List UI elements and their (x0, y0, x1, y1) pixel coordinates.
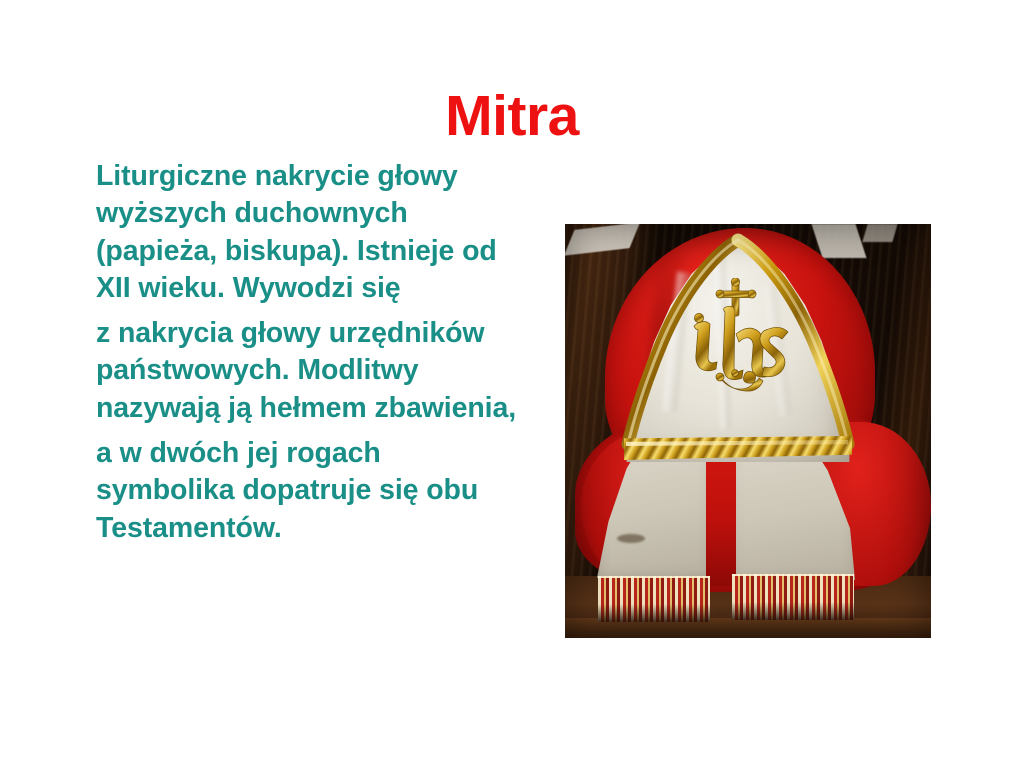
body-text-block: Liturgiczne nakrycie głowy wyższych duch… (96, 158, 526, 547)
fringe-right-shadow (732, 602, 854, 620)
fringe-left-shadow (598, 604, 710, 622)
mitre-object (622, 238, 854, 462)
paragraph-2: z nakrycia głowy urzędników państwowych.… (96, 315, 526, 427)
lappet-smudge (617, 534, 645, 543)
slide-canvas: Mitra Liturgiczne nakrycie głowy wyższyc… (0, 0, 1024, 767)
page-title: Mitra (0, 88, 1024, 145)
ihs-monogram-icon (674, 278, 800, 400)
paragraph-1: Liturgiczne nakrycie głowy wyższych duch… (96, 158, 526, 307)
photo-highlight-sliver-top-right (862, 224, 897, 242)
mitre-photo (565, 224, 931, 638)
mitre-photo-content (565, 224, 931, 638)
paragraph-3: a w dwóch jej rogach symbolika dopatruje… (96, 435, 526, 547)
